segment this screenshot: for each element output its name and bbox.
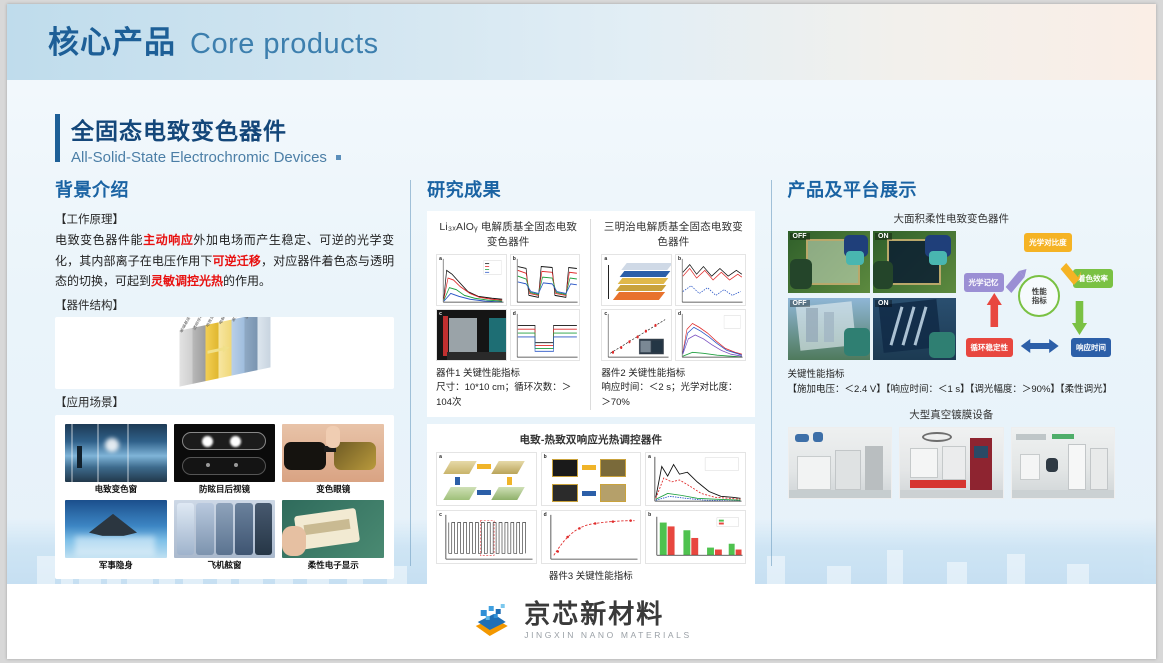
scene-image-flexible-display — [282, 500, 384, 558]
principle-paragraph: 电致变色器件能主动响应外加电场而产生稳定、可逆的光学变化，其内部离子在电压作用下… — [55, 230, 394, 292]
figure-spectra-d: d — [675, 309, 746, 361]
slide-header: 核心产品 Core products — [7, 4, 1156, 80]
scene-caption: 变色眼镜 — [282, 484, 384, 495]
device-layer-stack: 玻璃基底 透明导电层 电致变色层 电解质层 离子存储层 透明导电层 玻璃基底 — [179, 317, 270, 389]
scene-item: 防眩目后视镜 — [174, 424, 276, 495]
scene-caption: 军事隐身 — [65, 560, 167, 571]
figure-panel-label: b — [648, 512, 651, 518]
photo-state-label: OFF — [790, 300, 810, 307]
logo-name-cn: 京芯新材料 — [524, 601, 692, 627]
scenes-label: 【应用场景】 — [55, 394, 394, 410]
principle-highlight-1: 主动响应 — [143, 233, 193, 247]
column-research: 研究成果 Li₃ₓAlOᵧ 电解质基全固态电致变色器件 a — [427, 176, 754, 576]
logo-name-en: JINGXIN NANO MATERIALS — [524, 630, 692, 640]
product-photo-grid: OFF ON OFF — [788, 231, 956, 361]
figure-panel-label: b — [678, 256, 681, 262]
device3-heading: 电致-热致双响应光热调控器件 — [436, 432, 745, 447]
figure-panel-label: a — [439, 454, 442, 460]
product-photo-off-window: OFF — [788, 298, 871, 360]
device1-figures: a — [436, 254, 580, 361]
flexible-metrics-title: 关键性能指标 — [788, 368, 1115, 383]
device2-heading: 三明治电解质基全固态电致变色器件 — [601, 219, 745, 249]
scene-item: 飞机舷窗 — [174, 500, 276, 571]
scene-image-military-stealth — [65, 500, 167, 558]
column-divider-right — [771, 180, 772, 566]
device-divider — [590, 219, 591, 410]
structure-layer: 玻璃基底 — [257, 317, 270, 370]
figure-bar-comparison-b: b — [645, 510, 745, 564]
equipment-section: 大型真空镀膜设备 — [788, 407, 1115, 499]
equipment-photo-2 — [899, 427, 1003, 499]
figure-cycling-d: d — [510, 309, 581, 361]
scene-item: 变色眼镜 — [282, 424, 384, 495]
figure-spectra-a: a — [436, 254, 507, 306]
section-title-cn: 全固态电致变色器件 — [71, 112, 350, 146]
product-photo-on-window: ON — [873, 298, 956, 360]
scene-image-color-changing-glasses — [282, 424, 384, 482]
figure-photo-c: c — [436, 309, 507, 361]
figure-device-photos-b: b — [541, 452, 641, 506]
principle-highlight-3: 灵敏调控光热 — [151, 274, 223, 288]
research-devices-card: Li₃ₓAlOᵧ 电解质基全固态电致变色器件 a — [427, 211, 754, 417]
scene-caption: 电致变色窗 — [65, 484, 167, 495]
figure-panel-label: d — [513, 311, 516, 317]
principle-highlight-2: 可逆迁移 — [213, 254, 261, 268]
middle-column-title: 研究成果 — [427, 176, 754, 202]
equipment-photo-3 — [1011, 427, 1115, 499]
flexible-device-heading: 大面积柔性电致变色器件 — [788, 211, 1115, 226]
section-heading: 全固态电致变色器件 All-Solid-State Electrochromic… — [55, 112, 350, 166]
scene-item: 军事隐身 — [65, 500, 167, 571]
product-photo-off-leaf: OFF — [788, 231, 871, 293]
figure-panel-label: c — [604, 311, 607, 317]
logo-text: 京芯新材料 JINGXIN NANO MATERIALS — [524, 601, 692, 640]
device2-metrics: 器件2 关键性能指标 响应时间：＜2 s；光学对比度：＞70% — [601, 367, 745, 410]
section-title-en: All-Solid-State Electrochromic Devices — [71, 149, 327, 166]
performance-indicator-diagram: 光学对比度 着色效率 响应时间 循环稳定性 光学记忆 性能 指标 — [964, 231, 1115, 361]
figure-panel-label: c — [439, 512, 442, 518]
figure-panel-label: c — [439, 311, 442, 317]
scene-image-anti-glare-mirror — [174, 424, 276, 482]
figure-panel-label: b — [544, 454, 547, 460]
company-logo: 京芯新材料 JINGXIN NANO MATERIALS — [471, 600, 692, 640]
header-title-en: Core products — [190, 28, 379, 61]
column-products: 产品及平台展示 大面积柔性电致变色器件 OFF ON — [788, 176, 1115, 576]
figure-cycling-c: c — [436, 510, 536, 564]
device2-block: 三明治电解质基全固态电致变色器件 a — [601, 219, 745, 410]
structure-layer-label: 透明导电层 — [243, 317, 259, 320]
structure-label: 【器件结构】 — [55, 297, 394, 313]
equipment-photo-1 — [788, 427, 892, 499]
figure-charge-density-d: d — [541, 510, 641, 564]
device1-block: Li₃ₓAlOᵧ 电解质基全固态电致变色器件 a — [436, 219, 580, 410]
figure-linear-c: c — [601, 309, 672, 361]
device1-metrics-line: 尺寸：10*10 cm；循环次数：＞104次 — [436, 381, 580, 410]
scene-image-aircraft-window — [174, 500, 276, 558]
figure-panel-label: a — [439, 256, 442, 262]
column-divider-left — [410, 180, 411, 566]
equipment-photo-row — [788, 427, 1115, 499]
scene-caption: 防眩目后视镜 — [174, 484, 276, 495]
content-columns: 背景介绍 【工作原理】 电致变色器件能主动响应外加电场而产生稳定、可逆的光学变化… — [55, 176, 1115, 576]
figure-panel-label: d — [544, 512, 547, 518]
scene-item: 柔性电子显示 — [282, 500, 384, 571]
device-structure-image: 玻璃基底 透明导电层 电致变色层 电解质层 离子存储层 透明导电层 玻璃基底 — [55, 317, 394, 389]
figure-transmittance-a: a — [645, 452, 745, 506]
figure-spectra-b: b — [675, 254, 746, 306]
figure-device-states-a: a — [436, 452, 536, 506]
principle-label: 【工作原理】 — [55, 211, 394, 227]
application-scenes-grid: 电致变色窗 防眩目后视镜 — [55, 415, 394, 579]
figure-schematic-a: a — [601, 254, 672, 306]
photo-state-label: ON — [875, 300, 892, 307]
section-rule-dot — [336, 155, 341, 160]
figure-panel-label: d — [678, 311, 681, 317]
device1-metrics-title: 器件1 关键性能指标 — [436, 367, 580, 381]
flexible-device-metrics: 关键性能指标 【施加电压：＜2.4 V】【响应时间：＜1 s】【调光幅度：＞90… — [788, 368, 1115, 397]
figure-switching-b: b — [510, 254, 581, 306]
flexible-device-showcase: OFF ON OFF — [788, 231, 1115, 361]
scene-item: 电致变色窗 — [65, 424, 167, 495]
section-accent-bar — [55, 114, 60, 162]
product-photo-on-leaf: ON — [873, 231, 956, 293]
photo-state-label: OFF — [790, 233, 810, 240]
scene-image-electrochromic-window — [65, 424, 167, 482]
device1-heading: Li₃ₓAlOᵧ 电解质基全固态电致变色器件 — [436, 219, 580, 249]
device3-metrics-title: 器件3 关键性能指标 — [436, 570, 745, 584]
photo-state-label: ON — [875, 233, 892, 240]
scene-caption: 柔性电子显示 — [282, 560, 384, 571]
slide-footer: 京芯新材料 JINGXIN NANO MATERIALS — [7, 584, 1156, 659]
structure-layer-label: 电解质层 — [217, 317, 231, 326]
equipment-heading: 大型真空镀膜设备 — [788, 407, 1115, 422]
scene-caption: 飞机舷窗 — [174, 560, 276, 571]
figure-panel-label: b — [513, 256, 516, 262]
device2-metrics-title: 器件2 关键性能指标 — [601, 367, 745, 381]
research-device3-card: 电致-热致双响应光热调控器件 a b — [427, 424, 754, 607]
structure-layer: 透明导电层 — [192, 325, 205, 384]
device2-figures: a b — [601, 254, 745, 361]
structure-layer: 玻璃基底 — [179, 328, 192, 387]
principle-text-1: 电致变色器件能 — [55, 233, 143, 247]
flexible-metrics-line: 【施加电压：＜2.4 V】【响应时间：＜1 s】【调光幅度：＞90%】【柔性调光… — [788, 383, 1115, 398]
diagram-arrows — [964, 231, 1115, 361]
structure-layer: 透明导电层 — [244, 317, 257, 373]
slide: 核心产品 Core products — [7, 4, 1156, 659]
figure-panel-label: a — [648, 454, 651, 460]
right-column-title: 产品及平台展示 — [788, 176, 1115, 202]
header-title-cn: 核心产品 — [48, 17, 176, 62]
structure-layer: 离子存储层 — [231, 317, 244, 376]
structure-layer-label: 玻璃基底 — [178, 317, 192, 334]
figure-panel-label: a — [604, 256, 607, 262]
device3-figures: a b — [436, 452, 745, 564]
logo-mark-icon — [471, 600, 515, 640]
principle-text-4: 的作用。 — [223, 274, 271, 288]
device2-metrics-line: 响应时间：＜2 s；光学对比度：＞70% — [601, 381, 745, 410]
column-background: 背景介绍 【工作原理】 电致变色器件能主动响应外加电场而产生稳定、可逆的光学变化… — [55, 176, 394, 576]
device1-metrics: 器件1 关键性能指标 尺寸：10*10 cm；循环次数：＞104次 — [436, 367, 580, 410]
left-column-title: 背景介绍 — [55, 176, 394, 202]
